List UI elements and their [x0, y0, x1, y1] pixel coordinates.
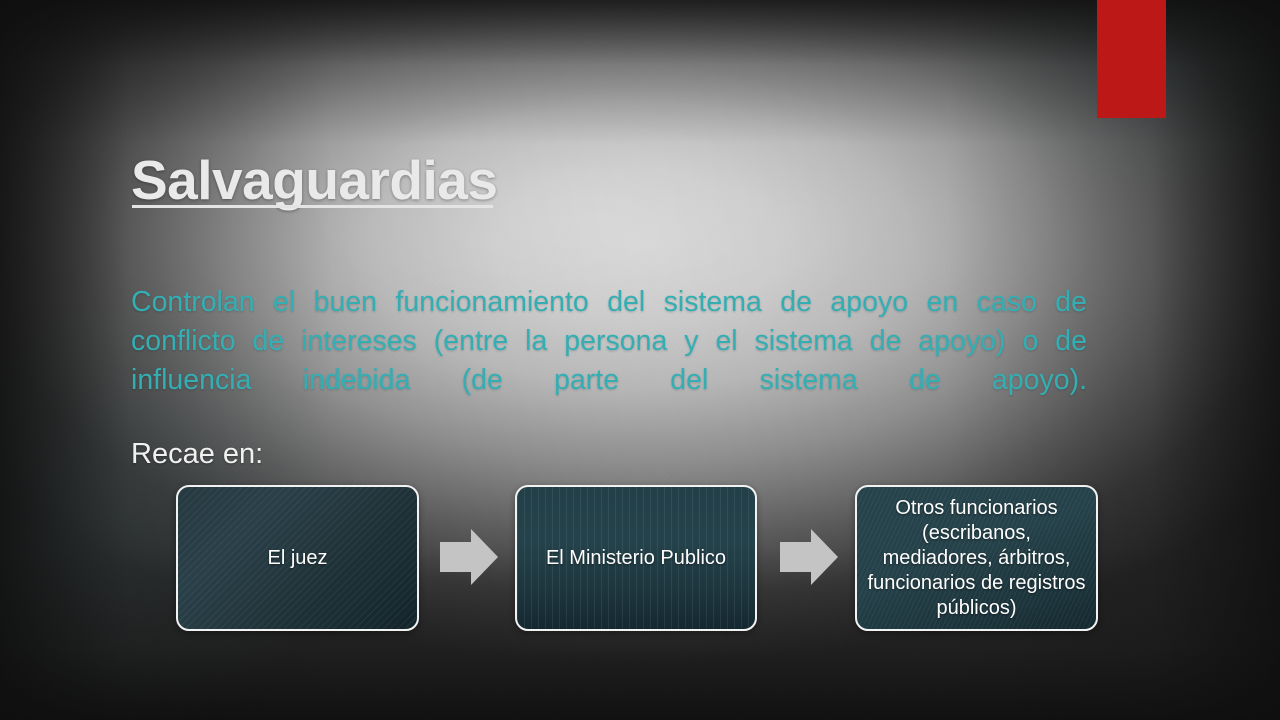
- process-node-3[interactable]: Otros funcionarios (escribanos, mediador…: [855, 485, 1098, 631]
- process-node-2[interactable]: El Ministerio Publico: [515, 485, 757, 631]
- body-paragraph: Controlan el buen funcionamiento del sis…: [131, 283, 1087, 439]
- subheading: Recae en:: [131, 438, 263, 471]
- process-node-3-label: Otros funcionarios (escribanos, mediador…: [857, 496, 1096, 621]
- process-node-2-label: El Ministerio Publico: [536, 546, 736, 571]
- arrow-right-icon-2: [778, 527, 840, 587]
- accent-block: [1097, 0, 1166, 118]
- title-underline: [132, 205, 493, 208]
- process-diagram: El juez El Ministerio Publico Otros func…: [176, 485, 1098, 631]
- slide-title: Salvaguardias: [131, 153, 497, 208]
- process-node-1[interactable]: El juez: [176, 485, 419, 631]
- process-node-1-label: El juez: [257, 546, 337, 571]
- presentation-slide: Salvaguardias Controlan el buen funciona…: [0, 0, 1280, 720]
- arrow-right-icon-1: [438, 527, 500, 587]
